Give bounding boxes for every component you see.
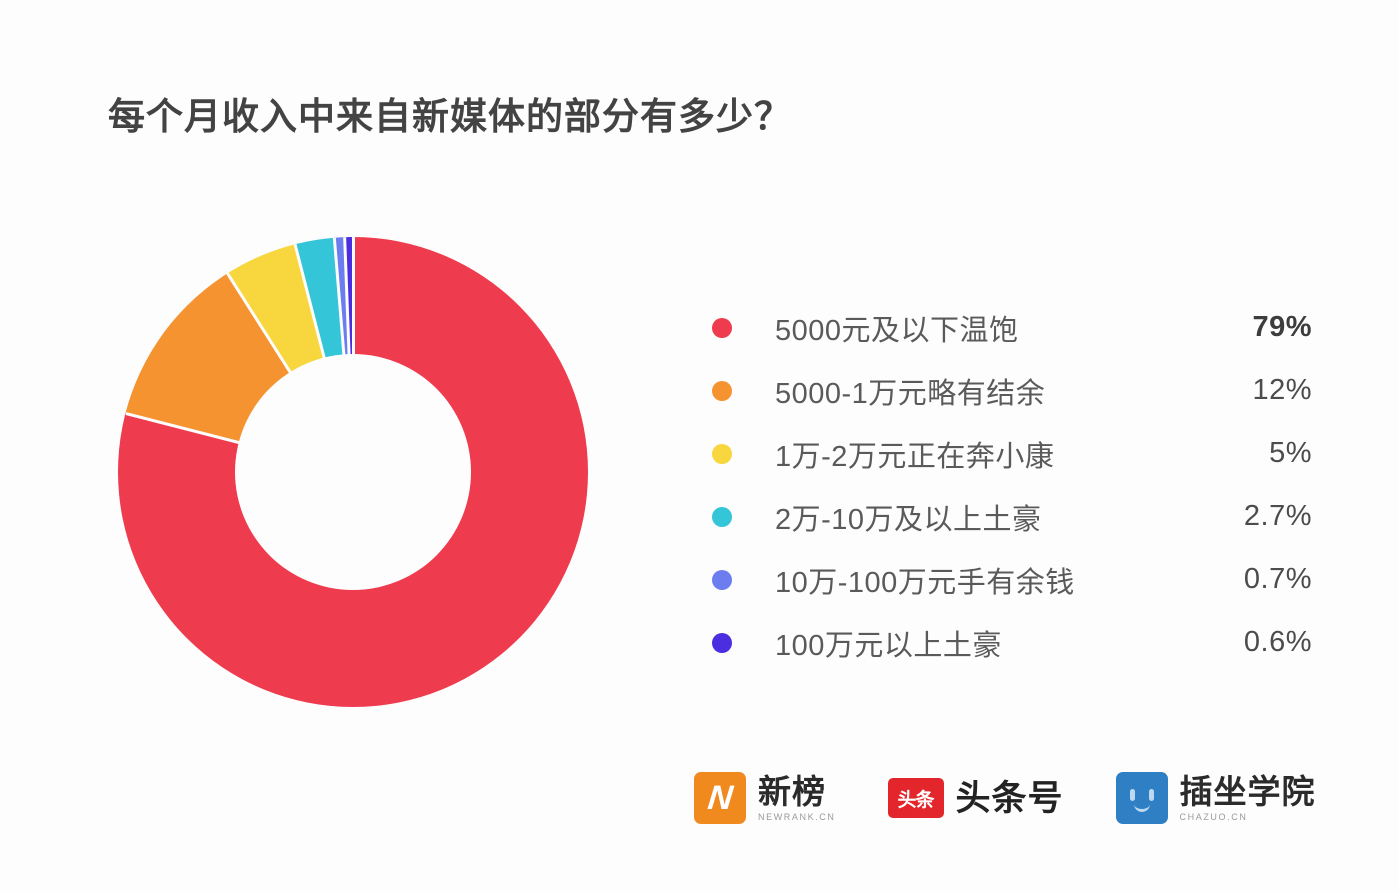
donut-chart xyxy=(118,237,588,707)
chazuo-logo-icon xyxy=(1116,772,1168,824)
legend-color-dot-icon xyxy=(712,318,732,338)
legend-item-value: 0.7% xyxy=(1192,563,1312,596)
chazuo-face-left-eye-icon xyxy=(1130,789,1135,801)
legend-item[interactable]: 5000元及以下温饱 79% xyxy=(712,296,1312,359)
legend-color-dot-icon xyxy=(712,633,732,653)
toutiao-logo-cn: 头条号 xyxy=(956,781,1064,816)
footer-logo-strip: N 新榜 NEWRANK.CN 头条 头条号 插坐学院 CHAZUO.CN xyxy=(694,772,1316,824)
page-title: 每个月收入中来自新媒体的部分有多少？ xyxy=(108,86,792,140)
newrank-logo: N 新榜 NEWRANK.CN xyxy=(694,772,836,824)
chazuo-face-right-eye-icon xyxy=(1149,789,1154,801)
newrank-logo-cn: 新榜 xyxy=(758,775,836,808)
legend-item[interactable]: 5000-1万元略有结余 12% xyxy=(712,359,1312,422)
toutiao-logo-text: 头条号 xyxy=(956,781,1064,816)
chazuo-logo-en: CHAZUO.CN xyxy=(1180,813,1316,822)
legend-item-label: 5000-1万元略有结余 xyxy=(775,370,1192,412)
newrank-n-glyph: N xyxy=(706,779,735,818)
legend-item-value: 2.7% xyxy=(1192,500,1312,533)
legend-item[interactable]: 1万-2万元正在奔小康 5% xyxy=(712,422,1312,485)
chazuo-face-mouth-icon xyxy=(1134,802,1150,812)
chazuo-logo: 插坐学院 CHAZUO.CN xyxy=(1116,772,1316,824)
chazuo-logo-text: 插坐学院 CHAZUO.CN xyxy=(1180,775,1316,822)
legend-color-dot-icon xyxy=(712,507,732,527)
legend-color-dot-icon xyxy=(712,570,732,590)
legend-item[interactable]: 2万-10万及以上土豪 2.7% xyxy=(712,485,1312,548)
legend-item-label: 5000元及以下温饱 xyxy=(775,307,1192,349)
newrank-logo-en: NEWRANK.CN xyxy=(758,813,836,822)
legend-item-label: 1万-2万元正在奔小康 xyxy=(775,433,1192,475)
toutiao-mark-glyph: 头条 xyxy=(898,785,934,812)
legend-color-dot-icon xyxy=(712,381,732,401)
chart-legend: 5000元及以下温饱 79% 5000-1万元略有结余 12% 1万-2万元正在… xyxy=(712,296,1312,674)
chazuo-logo-cn: 插坐学院 xyxy=(1180,775,1316,808)
legend-item-label: 2万-10万及以上土豪 xyxy=(775,496,1192,538)
newrank-logo-icon: N xyxy=(694,772,746,824)
donut-center-hole xyxy=(235,354,471,590)
legend-item-label: 100万元以上土豪 xyxy=(775,622,1192,664)
legend-item[interactable]: 100万元以上土豪 0.6% xyxy=(712,611,1312,674)
newrank-logo-text: 新榜 NEWRANK.CN xyxy=(758,775,836,822)
legend-item-value: 79% xyxy=(1192,311,1312,344)
legend-item-label: 10万-100万元手有余钱 xyxy=(775,559,1192,601)
legend-item-value: 12% xyxy=(1192,374,1312,407)
legend-color-dot-icon xyxy=(712,444,732,464)
legend-item-value: 0.6% xyxy=(1192,626,1312,659)
legend-item[interactable]: 10万-100万元手有余钱 0.7% xyxy=(712,548,1312,611)
toutiao-logo-icon: 头条 xyxy=(888,778,944,818)
toutiao-logo: 头条 头条号 xyxy=(888,778,1064,818)
legend-item-value: 5% xyxy=(1192,437,1312,470)
